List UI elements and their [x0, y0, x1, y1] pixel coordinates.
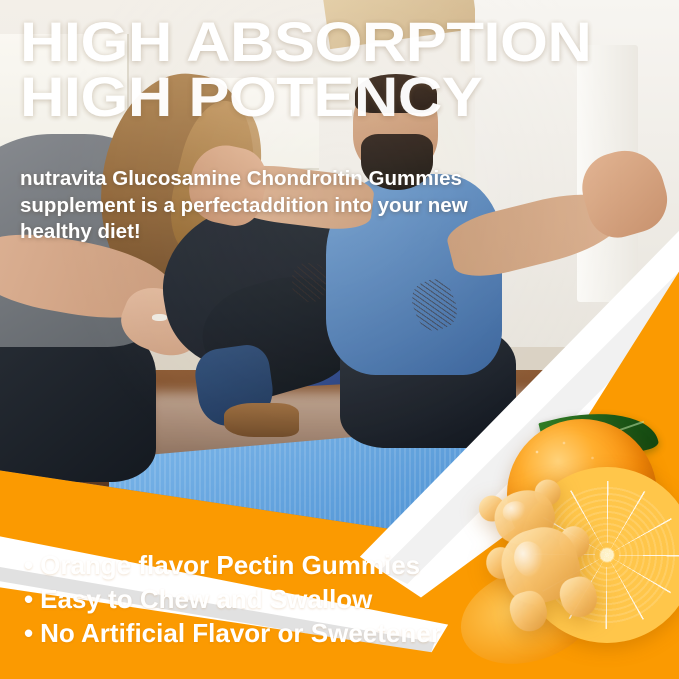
bullet-marker-icon: • — [24, 584, 33, 614]
product-banner: HIGH ABSORPTION HIGH POTENCY nutravita G… — [0, 0, 679, 679]
bullet-item: •Orange flavor Pectin Gummies — [24, 549, 494, 583]
bullet-marker-icon: • — [24, 550, 33, 580]
bullet-text: No Artificial Flavor or Sweetener — [40, 618, 441, 648]
bullet-item: •No Artificial Flavor or Sweetener — [24, 617, 494, 651]
bullet-text: Orange flavor Pectin Gummies — [40, 550, 420, 580]
bullet-item: •Easy to Chew and Swallow — [24, 583, 494, 617]
bullet-marker-icon: • — [24, 618, 33, 648]
feature-bullet-list: •Orange flavor Pectin Gummies •Easy to C… — [24, 549, 494, 650]
bullet-text: Easy to Chew and Swallow — [40, 584, 372, 614]
